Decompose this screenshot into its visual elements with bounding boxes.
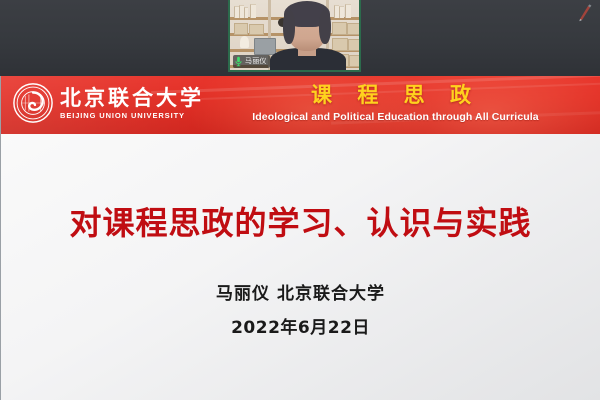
desk-lamp [240, 36, 249, 48]
band-headline: 课 程 思 政 Ideological and Political Educat… [201, 82, 590, 125]
shelf-box [332, 22, 347, 35]
university-name-cn: 北京联合大学 [60, 86, 204, 110]
shelf-box [332, 38, 348, 51]
beijing-union-university-seal-icon [13, 83, 53, 123]
band-title-cn: 课 程 思 政 [201, 82, 590, 109]
desk-monitor [254, 38, 276, 55]
participant-hair [283, 10, 295, 44]
slide-header-band: 北京联合大学 BEIJING UNION UNIVERSITY 课 程 思 政 … [1, 76, 600, 134]
meeting-screen: 马丽仪 [0, 0, 600, 400]
shelf-book [345, 4, 351, 18]
participant-name-bar: 马丽仪 [233, 55, 270, 68]
participant-hair [319, 10, 331, 44]
shelf-box [349, 55, 361, 67]
band-title-en: Ideological and Political Education thro… [201, 110, 590, 125]
shelf-book [250, 4, 256, 18]
participant-name-label: 马丽仪 [245, 57, 267, 66]
university-logo-text: 北京联合大学 BEIJING UNION UNIVERSITY [60, 86, 204, 121]
slide-body: 对课程思政的学习、认识与实践 马丽仪 北京联合大学 2022年6月22日 [1, 134, 600, 400]
slide-main-title: 对课程思政的学习、认识与实践 [1, 202, 600, 244]
participant-video-tile[interactable]: 马丽仪 [228, 0, 361, 72]
university-logo-lockup: 北京联合大学 BEIJING UNION UNIVERSITY [13, 83, 204, 123]
university-name-en: BEIJING UNION UNIVERSITY [60, 111, 204, 121]
shelf-box [249, 24, 264, 35]
shelf-box [234, 23, 248, 35]
shelf-book [339, 6, 344, 18]
shelf-book [244, 7, 248, 18]
microphone-on-icon[interactable] [234, 56, 243, 67]
slide-presenter: 马丽仪 北京联合大学 [1, 282, 600, 306]
presentation-slide[interactable]: 北京联合大学 BEIJING UNION UNIVERSITY 课 程 思 政 … [0, 76, 600, 400]
shelf-box [347, 23, 361, 35]
slide-date: 2022年6月22日 [1, 316, 600, 340]
shelf-box [348, 39, 361, 51]
app-watermark-icon [576, 3, 594, 23]
